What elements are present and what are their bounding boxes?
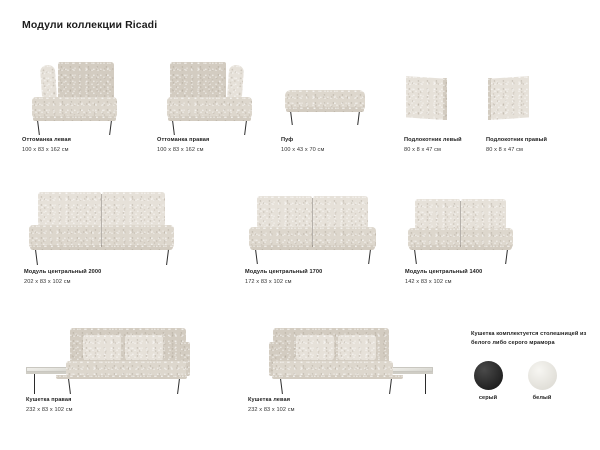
table-leg <box>34 374 35 394</box>
product-name: Оттоманка правая <box>157 137 209 145</box>
module-1700-caption: Модуль центральный 1700 172 x 83 x 102 с… <box>245 269 322 286</box>
base-rail <box>33 116 116 121</box>
marble-options-note: Кушетка комплектуется столешницей из бел… <box>471 330 589 347</box>
back-pillow-left <box>296 335 334 360</box>
product-daybed-left[interactable]: Кушетка левая 232 x 83 x 102 см <box>248 322 438 422</box>
daybed-right-illustration <box>26 322 216 396</box>
leg <box>68 379 71 394</box>
ottoman-left-caption: Оттоманка левая 100 x 83 x 162 см <box>22 137 71 154</box>
swatch-label: серый <box>471 395 505 401</box>
ottoman-right-illustration <box>157 58 267 136</box>
ottoman-left-illustration <box>22 58 132 136</box>
leg <box>505 250 508 264</box>
product-name: Подлокотник левый <box>404 137 462 145</box>
product-armrest-left[interactable]: Подлокотник левый 80 x 8 x 47 см <box>404 58 484 158</box>
white-marble-icon <box>528 361 557 390</box>
seat-cushion-right <box>313 227 376 247</box>
armrest-left-caption: Подлокотник левый 80 x 8 x 47 см <box>404 137 462 154</box>
product-module-2000[interactable]: Модуль центральный 2000 202 x 83 x 102 с… <box>24 188 204 293</box>
product-name: Модуль центральный 1400 <box>405 269 482 277</box>
seat-cushion <box>167 97 252 118</box>
product-dimensions: 202 x 83 x 102 см <box>24 279 101 287</box>
module-2000-illustration <box>24 188 204 268</box>
product-dimensions: 142 x 83 x 102 см <box>405 279 482 287</box>
marble-swatch-grey[interactable]: серый <box>471 361 505 401</box>
leg <box>255 250 258 264</box>
daybed-left-illustration <box>248 322 438 396</box>
leg <box>280 379 283 394</box>
leg <box>414 250 417 264</box>
product-dimensions: 232 x 83 x 102 см <box>248 407 295 415</box>
catalog-page: Модули коллекции Ricadi Оттоманка левая … <box>0 0 600 450</box>
module-1400-caption: Модуль центральный 1400 142 x 83 x 102 с… <box>405 269 482 286</box>
product-dimensions: 232 x 83 x 102 см <box>26 407 73 415</box>
backrest-cushion-left <box>38 192 101 225</box>
daybed-left-caption: Кушетка левая 232 x 83 x 102 см <box>248 397 295 414</box>
product-name: Кушетка правая <box>26 397 73 405</box>
armrest-left-illustration <box>404 58 484 136</box>
table-leg <box>425 374 426 394</box>
backrest-panel <box>170 62 226 98</box>
leg <box>357 112 360 125</box>
cushion-seam <box>460 201 461 247</box>
leg <box>290 112 293 125</box>
armrest-right-caption: Подлокотник правый 80 x 8 x 47 см <box>486 137 547 154</box>
page-title: Модули коллекции Ricadi <box>22 19 157 31</box>
leg <box>244 121 247 135</box>
product-module-1400[interactable]: Модуль центральный 1400 142 x 83 x 102 с… <box>405 195 550 293</box>
pouf-illustration <box>281 58 391 136</box>
seat-cushion <box>32 97 117 118</box>
leg <box>368 250 371 264</box>
product-pouf[interactable]: Пуф 100 x 43 x 70 см <box>281 58 391 158</box>
armrest-edge <box>443 78 447 120</box>
backrest-cushion-right <box>102 192 165 225</box>
product-dimensions: 100 x 83 x 162 см <box>22 147 71 155</box>
back-pillow-left <box>83 335 121 360</box>
seat-cushion-left <box>29 225 101 247</box>
bolster-cushion <box>40 65 57 102</box>
product-name: Модуль центральный 2000 <box>24 269 101 277</box>
product-armrest-right[interactable]: Подлокотник правый 80 x 8 x 47 см <box>486 58 566 158</box>
product-name: Кушетка левая <box>248 397 295 405</box>
product-name: Оттоманка левая <box>22 137 71 145</box>
base-rail <box>56 375 187 379</box>
armrest-right-illustration <box>486 58 566 136</box>
module-1400-illustration <box>405 195 550 268</box>
product-dimensions: 80 x 8 x 47 см <box>404 147 462 155</box>
swatch-label: белый <box>525 395 559 401</box>
daybed-right-caption: Кушетка правая 232 x 83 x 102 см <box>26 397 73 414</box>
seat-cushion-right <box>102 225 174 247</box>
product-module-1700[interactable]: Модуль центральный 1700 172 x 83 x 102 с… <box>245 192 410 293</box>
cushion-seam <box>101 194 102 247</box>
leg <box>166 250 169 265</box>
product-ottoman-left[interactable]: Оттоманка левая 100 x 83 x 162 см <box>22 58 132 158</box>
leg <box>109 121 112 135</box>
leg <box>172 121 175 135</box>
product-dimensions: 100 x 83 x 162 см <box>157 147 209 155</box>
pouf-base-rail <box>286 107 364 112</box>
base-rail <box>168 116 251 121</box>
leg <box>35 250 38 265</box>
product-name: Модуль центральный 1700 <box>245 269 322 277</box>
base-rail <box>272 375 403 379</box>
leg <box>37 121 40 135</box>
leg <box>389 379 392 394</box>
marble-swatch-group: серый белый <box>471 361 559 401</box>
marble-swatch-white[interactable]: белый <box>525 361 559 401</box>
module-1700-illustration <box>245 192 410 268</box>
product-dimensions: 80 x 8 x 47 см <box>486 147 547 155</box>
note-text: Кушетка комплектуется столешницей из бел… <box>471 330 589 347</box>
module-2000-caption: Модуль центральный 2000 202 x 83 x 102 с… <box>24 269 101 286</box>
backrest-cushion-left <box>415 199 460 228</box>
product-daybed-right[interactable]: Кушетка правая 232 x 83 x 102 см <box>26 322 216 422</box>
back-pillow-right <box>338 335 376 360</box>
ottoman-right-caption: Оттоманка правая 100 x 83 x 162 см <box>157 137 209 154</box>
backrest-cushion-right <box>461 199 506 228</box>
grey-marble-icon <box>474 361 503 390</box>
product-name: Подлокотник правый <box>486 137 547 145</box>
product-name: Пуф <box>281 137 324 145</box>
product-dimensions: 100 x 43 x 70 см <box>281 147 324 155</box>
back-pillow-right <box>125 335 163 360</box>
armrest-face <box>406 76 444 120</box>
seat-cushion-left <box>249 227 312 247</box>
backrest-panel <box>58 62 114 98</box>
product-dimensions: 172 x 83 x 102 см <box>245 279 322 287</box>
bolster-cushion <box>227 65 244 102</box>
product-ottoman-right[interactable]: Оттоманка правая 100 x 83 x 162 см <box>157 58 267 158</box>
backrest-cushion-left <box>257 196 312 227</box>
backrest-cushion-right <box>313 196 368 227</box>
pouf-caption: Пуф 100 x 43 x 70 см <box>281 137 324 154</box>
leg <box>177 379 180 394</box>
armrest-face <box>491 76 529 120</box>
cushion-seam <box>312 198 313 247</box>
